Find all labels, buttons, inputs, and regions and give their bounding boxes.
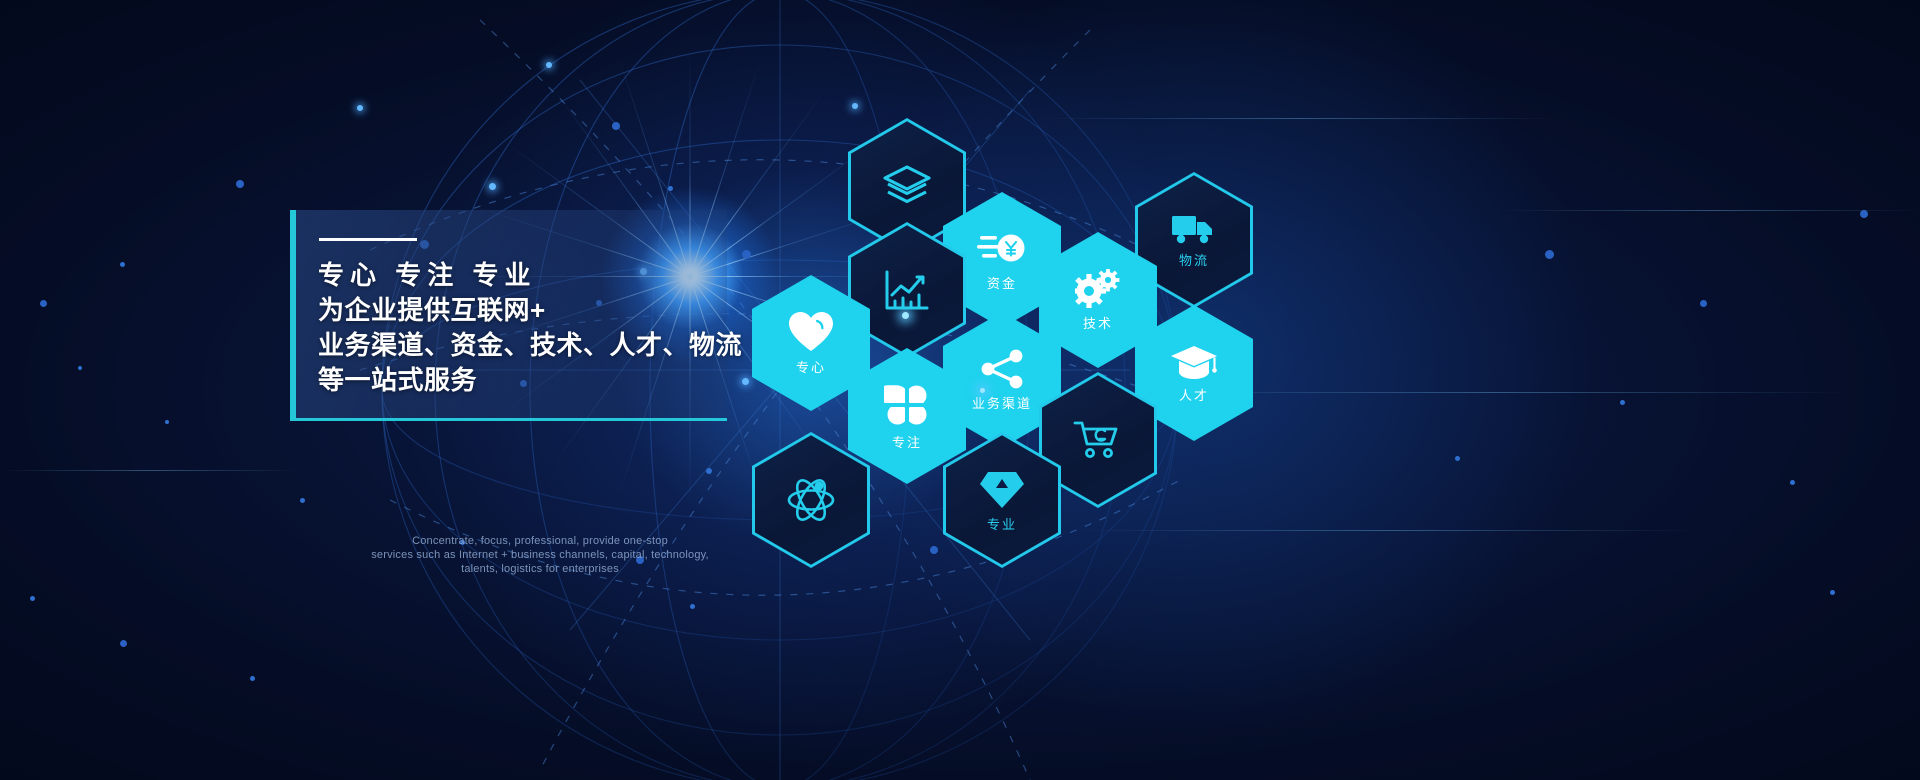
heart-icon	[787, 311, 835, 353]
headline-line-2: 为企业提供互联网+	[318, 293, 738, 328]
accent-rule	[319, 238, 417, 241]
hexagon-cluster: 资金 物流	[730, 100, 1290, 540]
hero-banner: 专心 专注 专业 为企业提供互联网+ 业务渠道、资金、技术、人才、物流 等一站式…	[0, 0, 1920, 780]
headline-line-4: 等一站式服务	[318, 363, 738, 398]
hex-label-concentration: 专注	[892, 435, 922, 451]
headline-line-1: 专心 专注 专业	[318, 258, 738, 293]
headline-panel: 专心 专注 专业 为企业提供互联网+ 业务渠道、资金、技术、人才、物流 等一站式…	[290, 210, 727, 421]
truck-icon	[1171, 212, 1217, 246]
hex-label-channels: 业务渠道	[972, 396, 1032, 412]
hex-professional[interactable]: 专业	[943, 432, 1061, 568]
atom-icon	[786, 476, 836, 524]
hex-atom[interactable]	[752, 432, 870, 568]
bar-chart-icon	[883, 268, 931, 312]
subtitle-line-1: Concentrate, focus, professional, provid…	[330, 534, 750, 548]
shopping-cart-icon	[1073, 419, 1123, 461]
hex-label-talents: 人才	[1179, 388, 1209, 404]
edge-glow-1	[902, 312, 909, 319]
diamond-icon	[980, 468, 1024, 510]
hex-label-tech: 技术	[1083, 316, 1113, 332]
gears-icon	[1075, 269, 1121, 309]
money-coin-icon	[977, 229, 1027, 269]
headline-lines: 专心 专注 专业 为企业提供互联网+ 业务渠道、资金、技术、人才、物流 等一站式…	[318, 258, 738, 398]
layers-icon	[881, 163, 933, 209]
share-icon	[980, 349, 1024, 389]
hex-label-heart: 专心	[796, 360, 826, 376]
subtitle-text: Concentrate, focus, professional, provid…	[330, 534, 750, 576]
edge-glow-2	[980, 388, 985, 393]
headline-line-3: 业务渠道、资金、技术、人才、物流	[318, 328, 738, 363]
hex-label-logistics: 物流	[1179, 253, 1209, 269]
subtitle-line-3: talents, logistics for enterprises	[330, 562, 750, 576]
subtitle-line-2: services such as Internet + business cha…	[330, 548, 750, 562]
graduation-cap-icon	[1170, 343, 1218, 381]
clover-icon	[884, 382, 930, 428]
hex-label-professional: 专业	[987, 517, 1017, 533]
hex-label-capital: 资金	[987, 276, 1017, 292]
